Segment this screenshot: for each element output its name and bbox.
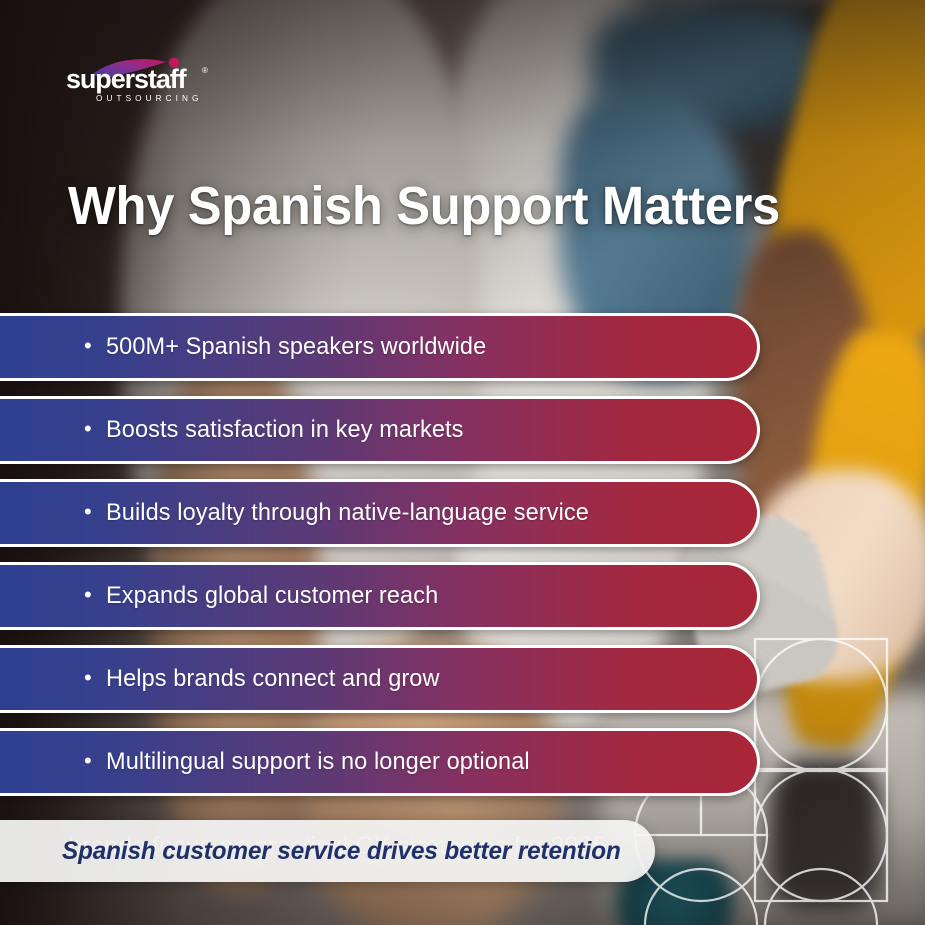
page-title: Why Spanish Support Matters [68,178,780,235]
benefit-text: Builds loyalty through native-language s… [106,499,589,527]
logo-wordmark: superstaff [66,64,188,94]
benefit-text: Helps brands connect and grow [106,665,440,693]
benefit-pill-4[interactable]: • Expands global customer reach [0,562,760,630]
footer-banner: Spanish customer service drives better r… [0,820,655,882]
benefit-text: Multilingual support is no longer option… [106,748,530,776]
benefit-text: 500M+ Spanish speakers worldwide [106,333,486,361]
logo-trademark-symbol: ® [202,66,208,75]
bullet-marker-icon: • [84,750,92,772]
benefits-list: • 500M+ Spanish speakers worldwide • Boo… [0,313,770,811]
benefit-pill-6[interactable]: • Multilingual support is no longer opti… [0,728,760,796]
benefit-pill-5[interactable]: • Helps brands connect and grow [0,645,760,713]
logo-tagline: OUTSOURCING [96,94,203,103]
bullet-marker-icon: • [84,418,92,440]
benefit-pill-3[interactable]: • Builds loyalty through native-language… [0,479,760,547]
benefit-text: Expands global customer reach [106,582,438,610]
benefit-text: Boosts satisfaction in key markets [106,416,464,444]
bullet-marker-icon: • [84,667,92,689]
superstaff-logo[interactable]: superstaff ® OUTSOURCING [66,58,234,106]
bullet-marker-icon: • [84,501,92,523]
bullet-marker-icon: • [84,335,92,357]
bullet-marker-icon: • [84,584,92,606]
footer-banner-text: Spanish customer service drives better r… [62,837,621,866]
benefit-pill-2[interactable]: • Boosts satisfaction in key markets [0,396,760,464]
benefit-pill-1[interactable]: • 500M+ Spanish speakers worldwide [0,313,760,381]
poster-canvas: superstaff ® OUTSOURCING Why Spanish Sup… [0,0,925,925]
